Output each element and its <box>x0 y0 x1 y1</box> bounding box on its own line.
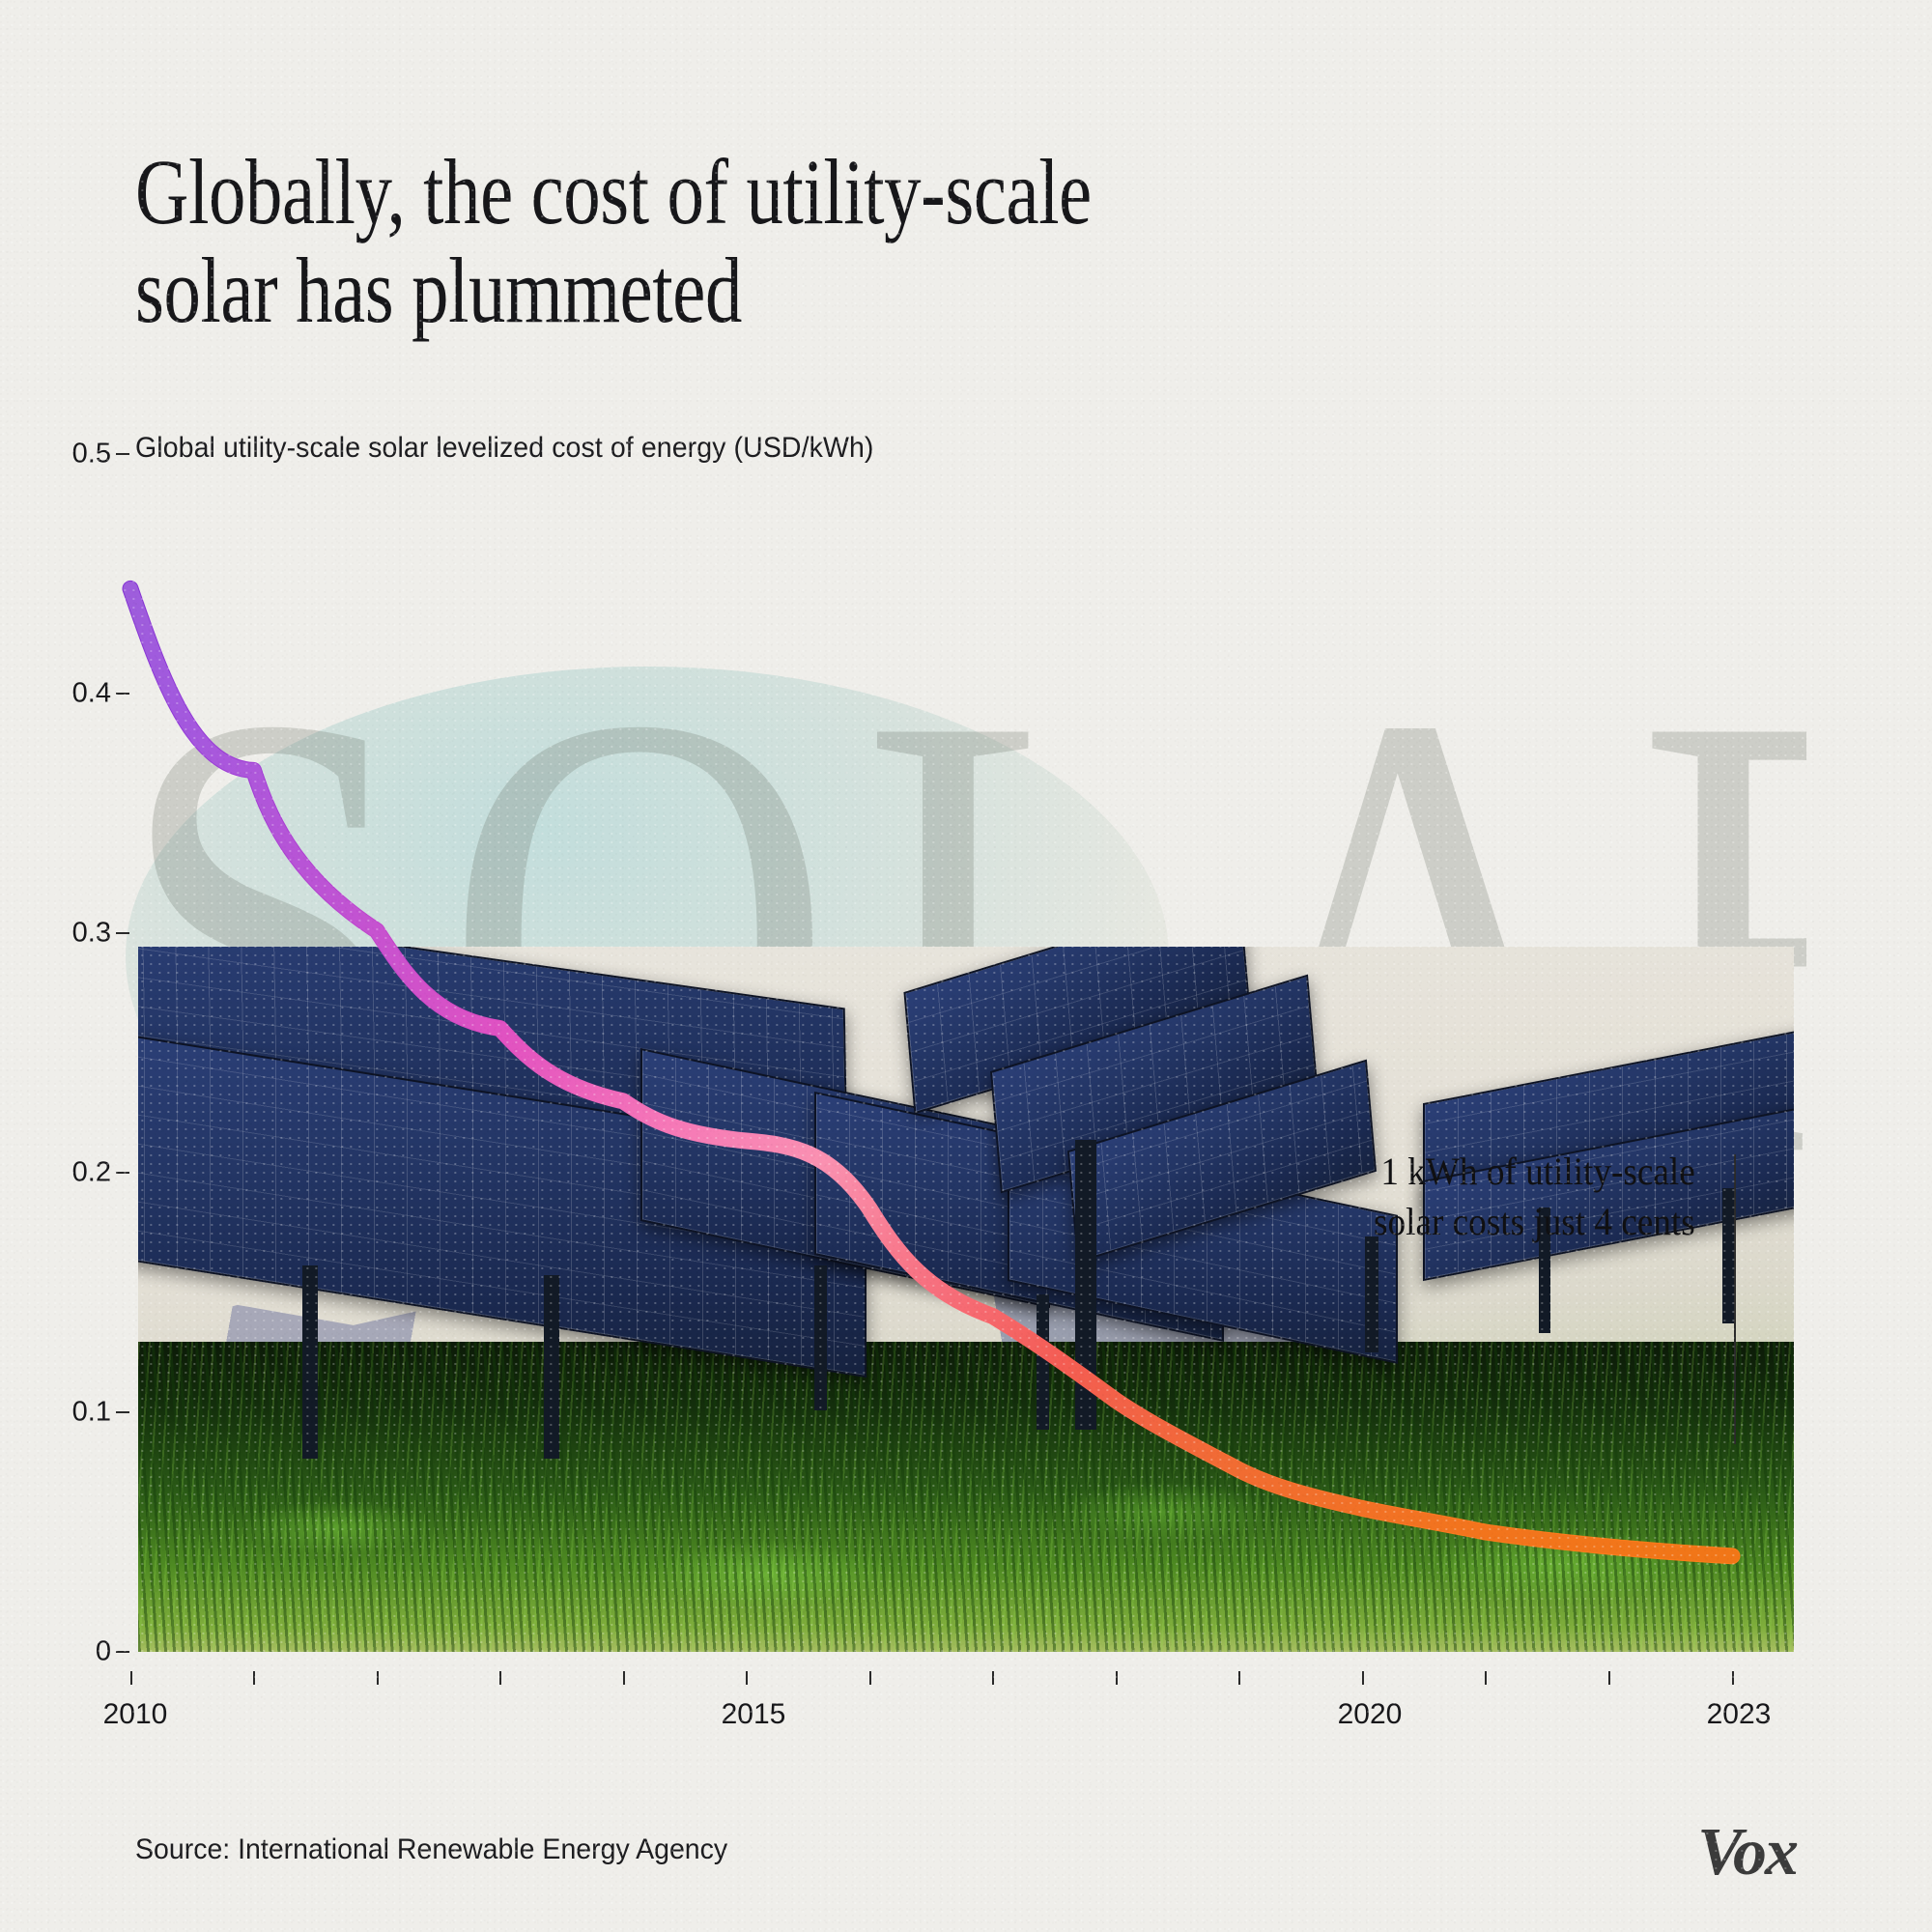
y-axis-tick <box>116 1172 129 1174</box>
x-axis-tick <box>1732 1671 1734 1685</box>
y-axis-label: 0.1 <box>43 1397 111 1429</box>
x-axis-tick <box>1362 1671 1364 1685</box>
source-credit: Source: International Renewable Energy A… <box>135 1833 727 1866</box>
x-axis-label: 2023 <box>1707 1698 1772 1731</box>
callout-leader-line <box>1734 1154 1736 1444</box>
y-axis-label: 0.3 <box>43 918 111 950</box>
x-axis-tick <box>130 1671 132 1685</box>
x-axis-label: 2015 <box>722 1698 786 1731</box>
y-axis-label: 0 <box>43 1636 111 1668</box>
x-axis-tick <box>746 1671 748 1685</box>
x-axis-tick <box>1238 1671 1240 1685</box>
line-chart: 0.5 0.4 0.3 0.2 0.1 0 2010 2015 2020 202… <box>0 0 1932 1932</box>
lcoe-line <box>130 588 1732 1555</box>
x-axis-label: 2020 <box>1338 1698 1403 1731</box>
chart-svg <box>0 0 1932 1932</box>
vox-logo: Vox <box>1697 1814 1797 1891</box>
x-axis-tick <box>1485 1671 1487 1685</box>
x-axis-tick <box>992 1671 994 1685</box>
y-axis-tick <box>116 1651 129 1653</box>
y-axis-tick <box>116 932 129 934</box>
x-axis-tick <box>499 1671 501 1685</box>
y-axis-tick <box>116 453 129 455</box>
callout-annotation: 1 kWh of utility-scale solar costs just … <box>1374 1147 1695 1247</box>
y-axis-label: 0.5 <box>43 439 111 470</box>
infographic-card: Globally, the cost of utility-scale sola… <box>0 0 1932 1932</box>
x-axis-tick <box>1116 1671 1118 1685</box>
lcoe-line-highlight <box>130 588 1732 1555</box>
x-axis-tick <box>377 1671 379 1685</box>
y-axis-label: 0.4 <box>43 678 111 710</box>
y-axis-label: 0.2 <box>43 1157 111 1189</box>
x-axis-tick <box>623 1671 625 1685</box>
y-axis-tick <box>116 1411 129 1413</box>
x-axis-label: 2010 <box>103 1698 168 1731</box>
y-axis-tick <box>116 693 129 695</box>
x-axis-tick <box>253 1671 255 1685</box>
x-axis-tick <box>1608 1671 1610 1685</box>
x-axis-tick <box>869 1671 871 1685</box>
